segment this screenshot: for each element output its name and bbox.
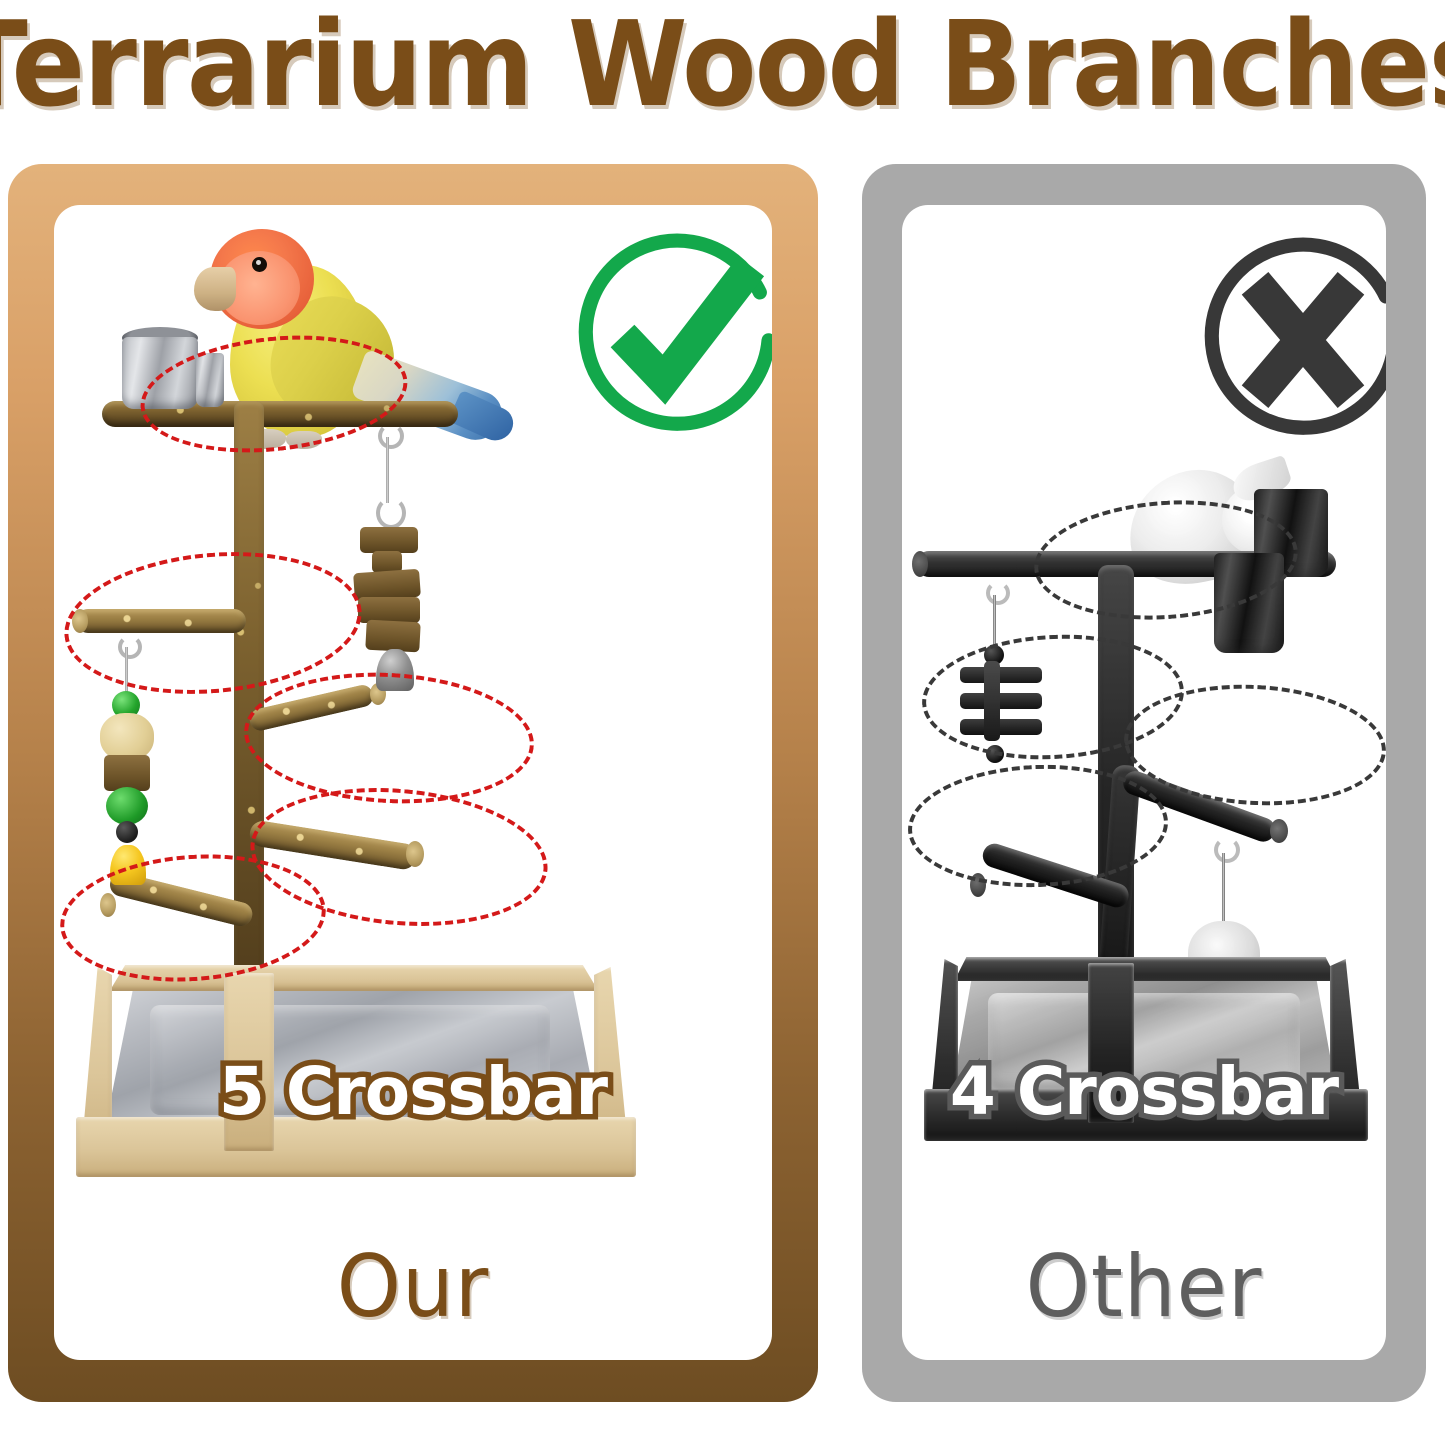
other-footer-panel: Other [902, 1213, 1386, 1360]
page-title: Terrarium Wood Branches [58, 0, 1387, 131]
red-cross-icon [1194, 231, 1386, 449]
other-tray-frame-back [942, 957, 1350, 981]
other-shredder-hook [1214, 837, 1240, 863]
other-crossbar-caption: 4 Crossbar [902, 1053, 1386, 1130]
other-toy-hook [986, 581, 1010, 605]
toy-hook-right [378, 423, 404, 449]
rattan-ball-toy [100, 713, 154, 761]
green-check-icon [568, 227, 772, 445]
comparison-card-our: 5 Crossbar Our [8, 164, 818, 1402]
our-footer-panel: Our [54, 1213, 772, 1360]
comparison-card-other: 4 Crossbar Other [862, 164, 1426, 1402]
our-crossbar-caption: 5 Crossbar [54, 1053, 772, 1130]
other-product-panel: 4 Crossbar [902, 205, 1386, 1325]
other-footer-label: Other [914, 1213, 1374, 1360]
our-footer-label: Our [72, 1213, 754, 1360]
our-product-panel: 5 Crossbar [54, 205, 772, 1325]
other-product-image: 4 Crossbar [902, 205, 1386, 1325]
our-product-image: 5 Crossbar [54, 205, 772, 1325]
